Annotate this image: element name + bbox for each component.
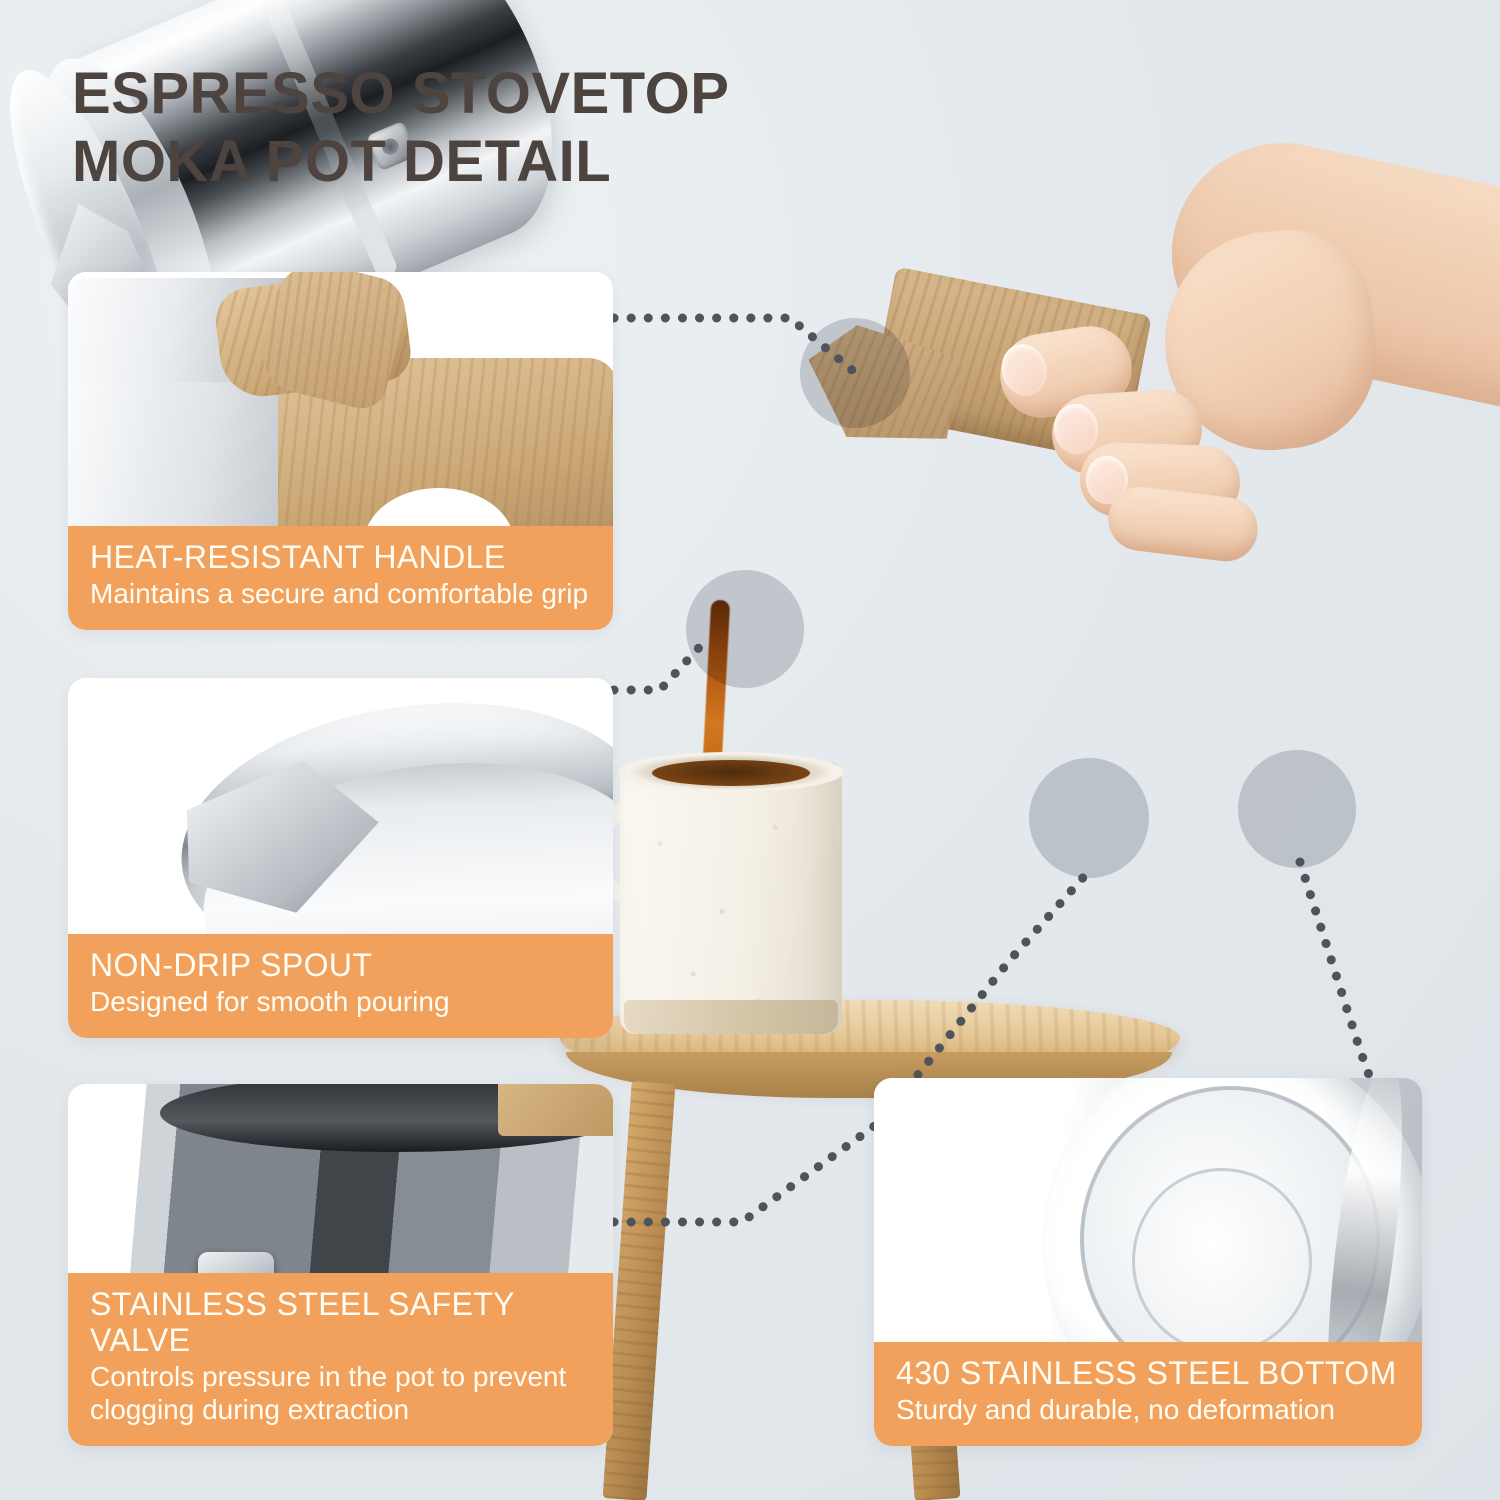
bottom-disc-inner [1132, 1168, 1312, 1342]
page-title: ESPRESSO STOVETOP MOKA POT DETAIL [72, 60, 972, 196]
ceramic-cup [620, 762, 842, 1034]
card-photo-steel-bottom [874, 1078, 1422, 1342]
table-leg [602, 1081, 675, 1500]
card-description: Controls pressure in the pot to prevent … [90, 1361, 591, 1426]
cup-coffee [652, 760, 810, 786]
feature-card-non-drip-spout[interactable]: NON-DRIP SPOUT Designed for smooth pouri… [68, 678, 613, 1038]
infographic-canvas: ESPRESSO STOVETOP MOKA POT DETAIL HEAT-R… [0, 0, 1500, 1500]
handle-hotspot[interactable] [800, 318, 910, 428]
pot-side-fragment-lower [68, 382, 312, 526]
connector-bottom [1300, 862, 1370, 1078]
card-description: Maintains a secure and comfortable grip [90, 578, 591, 610]
card-text-block: HEAT-RESISTANT HANDLE Maintains a secure… [68, 526, 613, 630]
card-description: Designed for smooth pouring [90, 986, 591, 1018]
valve-hotspot[interactable] [1029, 758, 1149, 878]
card-title: HEAT-RESISTANT HANDLE [90, 540, 591, 576]
finger [1105, 483, 1262, 565]
card-photo-spout [68, 678, 613, 934]
card-text-block: 430 STAINLESS STEEL BOTTOM Sturdy and du… [874, 1342, 1422, 1446]
feature-card-stainless-steel-safety-valve[interactable]: STAINLESS STEEL SAFETY VALVE Controls pr… [68, 1084, 613, 1446]
bottom-hotspot[interactable] [1238, 750, 1356, 868]
card-description: Sturdy and durable, no deformation [896, 1394, 1400, 1426]
card-photo-wooden-handle [68, 272, 613, 526]
card-title: 430 STAINLESS STEEL BOTTOM [896, 1356, 1400, 1392]
card-text-block: STAINLESS STEEL SAFETY VALVE Controls pr… [68, 1273, 613, 1446]
card-title: STAINLESS STEEL SAFETY VALVE [90, 1287, 591, 1359]
feature-card-heat-resistant-handle[interactable]: HEAT-RESISTANT HANDLE Maintains a secure… [68, 272, 613, 630]
cup-foot [624, 1000, 838, 1034]
spout-hotspot[interactable] [686, 570, 804, 688]
card-text-block: NON-DRIP SPOUT Designed for smooth pouri… [68, 934, 613, 1038]
feature-card-430-stainless-steel-bottom[interactable]: 430 STAINLESS STEEL BOTTOM Sturdy and du… [874, 1078, 1422, 1446]
card-title: NON-DRIP SPOUT [90, 948, 591, 984]
card-photo-safety-valve [68, 1084, 613, 1273]
wood-fragment [498, 1084, 613, 1136]
safety-valve-nut [198, 1252, 274, 1273]
